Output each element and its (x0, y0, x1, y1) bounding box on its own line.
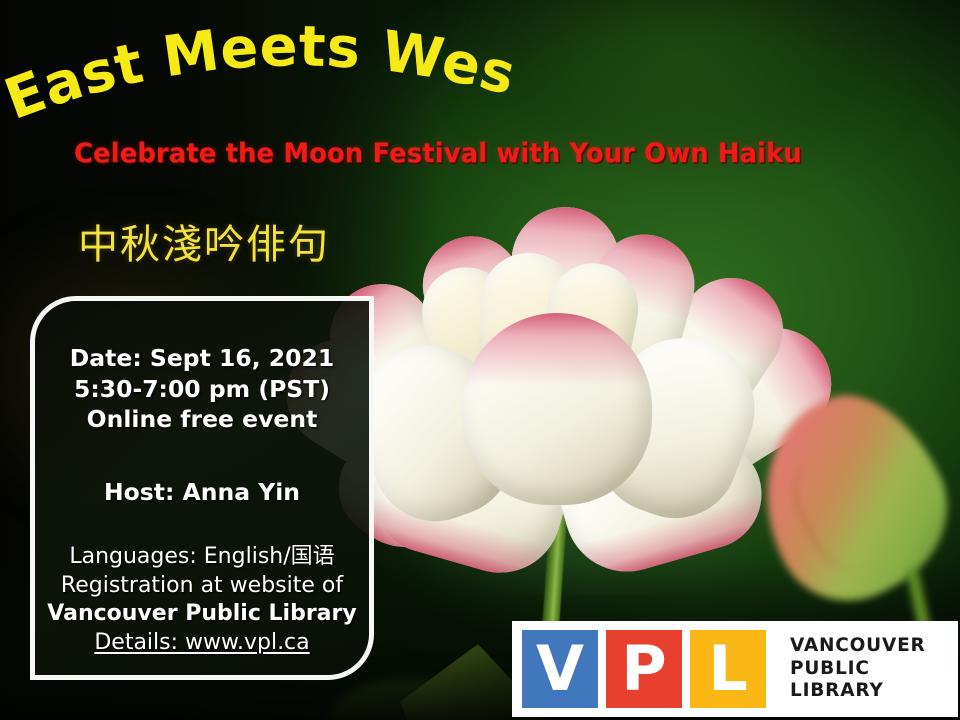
vpl-logo-letter-v: V (522, 630, 598, 708)
event-languages: Languages: English/国语 (35, 543, 369, 572)
poster-title: East Meets West (0, 24, 520, 134)
vpl-wordmark-line-3: LIBRARY (790, 680, 926, 703)
vpl-logo-letter-p: P (606, 630, 682, 708)
event-registration: Registration at website of (35, 572, 369, 601)
poster-subtitle: Celebrate the Moon Festival with Your Ow… (74, 138, 850, 169)
vpl-wordmark-line-2: PUBLIC (790, 658, 926, 681)
event-format: Online free event (35, 404, 369, 435)
event-details-link[interactable]: Details: www.vpl.ca (35, 629, 369, 658)
event-poster: East Meets West Celebrate the Moon Festi… (0, 0, 960, 720)
event-time: 5:30-7:00 pm (PST) (35, 374, 369, 405)
vpl-logo-letter-l: L (690, 630, 766, 708)
event-host: Host: Anna Yin (35, 477, 369, 508)
lotus-petal-front-center (462, 313, 652, 505)
event-date: Date: Sept 16, 2021 (35, 343, 369, 374)
poster-chinese-headline: 中秋淺吟俳句 (78, 212, 330, 270)
event-organization: Vancouver Public Library (35, 600, 369, 629)
lotus-bud (762, 400, 942, 610)
vpl-wordmark-line-1: VANCOUVER (790, 635, 926, 658)
vpl-wordmark: VANCOUVER PUBLIC LIBRARY (790, 635, 926, 703)
vpl-logo[interactable]: V P L VANCOUVER PUBLIC LIBRARY (512, 621, 958, 717)
details-spacer (35, 507, 369, 543)
event-details-box: Date: Sept 16, 2021 5:30-7:00 pm (PST) O… (30, 296, 374, 680)
